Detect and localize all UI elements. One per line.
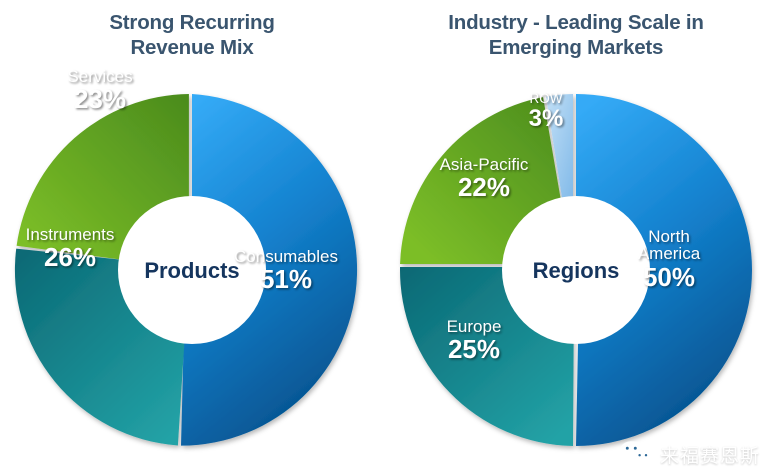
donut-hole-revenue-mix bbox=[118, 196, 266, 344]
watermark: 来福赛恩斯 bbox=[619, 440, 760, 468]
chart-panel-revenue-mix: Strong Recurring Revenue Mix bbox=[0, 0, 384, 476]
page-title-revenue-mix: Strong Recurring Revenue Mix bbox=[0, 10, 384, 60]
page-title-regional-scale: Industry - Leading Scale in Emerging Mar… bbox=[384, 10, 768, 60]
donut-svg-revenue-mix bbox=[0, 78, 384, 470]
watermark-text: 来福赛恩斯 bbox=[660, 441, 760, 468]
donut-chart-revenue-mix: Consumables 51% Instruments 26% Services… bbox=[0, 78, 384, 470]
wechat-icon bbox=[619, 440, 653, 468]
donut-chart-regional-scale: North America 50% Europe 25% Asia-Pacifi… bbox=[384, 78, 768, 470]
chart-panel-regional-scale: Industry - Leading Scale in Emerging Mar… bbox=[384, 0, 768, 476]
slide-canvas: Strong Recurring Revenue Mix bbox=[0, 0, 768, 476]
donut-hole-regional-scale bbox=[502, 196, 650, 344]
donut-svg-regional-scale bbox=[384, 78, 768, 470]
